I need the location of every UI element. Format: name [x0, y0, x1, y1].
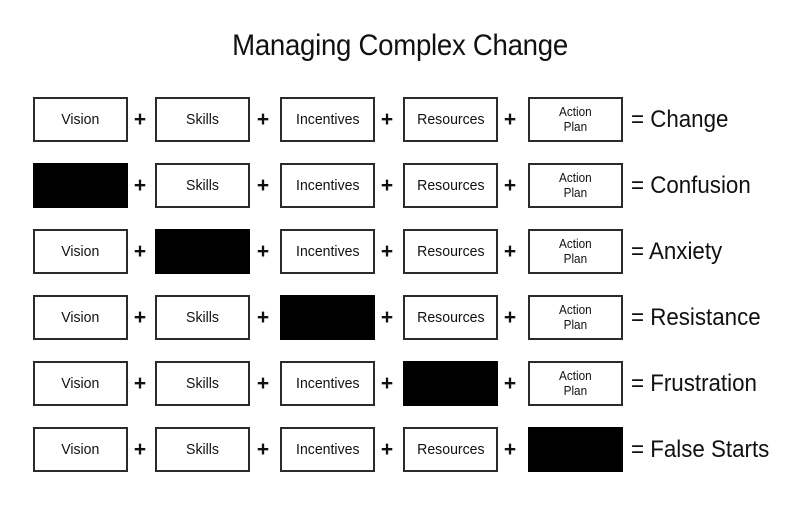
factor-label: Action Plan — [559, 303, 592, 332]
equation-row: Vision+Skills+Incentives+Resources+Actio… — [0, 154, 800, 220]
factor-label: Resources — [417, 112, 484, 128]
factor-box-incentives-blacked[interactable]: Incentives — [280, 295, 375, 340]
factor-label: Incentives — [296, 442, 359, 458]
factor-box-incentives[interactable]: Incentives — [280, 427, 375, 472]
plus-operator: + — [499, 295, 521, 340]
plus-operator: + — [499, 97, 521, 142]
factor-label: Incentives — [296, 178, 359, 194]
factor-box-skills[interactable]: Skills — [155, 97, 250, 142]
result-label-incentives: = Resistance — [631, 295, 761, 340]
page-title: Managing Complex Change — [32, 29, 768, 63]
factor-box-incentives[interactable]: Incentives — [280, 97, 375, 142]
plus-operator: + — [252, 361, 274, 406]
factor-box-resources[interactable]: Resources — [403, 427, 498, 472]
plus-operator: + — [129, 361, 151, 406]
factor-box-action_plan[interactable]: Action Plan — [528, 163, 623, 208]
factor-label: Vision — [61, 310, 99, 326]
factor-box-action_plan[interactable]: Action Plan — [528, 295, 623, 340]
equation-row: Vision+Skills+Incentives+Resources+Actio… — [0, 352, 800, 418]
result-label-resources: = Frustration — [631, 361, 757, 406]
equation-row: Vision+Skills+Incentives+Resources+Actio… — [0, 286, 800, 352]
factor-box-incentives[interactable]: Incentives — [280, 361, 375, 406]
factor-label: Action Plan — [559, 105, 592, 134]
factor-box-resources[interactable]: Resources — [403, 229, 498, 274]
factor-box-resources[interactable]: Resources — [403, 295, 498, 340]
equation-row: Vision+Skills+Incentives+Resources+Actio… — [0, 88, 800, 154]
factor-label: Action Plan — [559, 237, 592, 266]
factor-label: Incentives — [296, 376, 359, 392]
factor-box-vision-blacked[interactable]: Vision — [33, 163, 128, 208]
plus-operator: + — [376, 163, 398, 208]
factor-box-vision[interactable]: Vision — [33, 361, 128, 406]
plus-operator: + — [129, 163, 151, 208]
plus-operator: + — [129, 295, 151, 340]
factor-label: Skills — [186, 178, 219, 194]
factor-box-incentives[interactable]: Incentives — [280, 229, 375, 274]
factor-box-skills[interactable]: Skills — [155, 163, 250, 208]
plus-operator: + — [376, 427, 398, 472]
factor-box-vision[interactable]: Vision — [33, 295, 128, 340]
plus-operator: + — [376, 295, 398, 340]
plus-operator: + — [499, 163, 521, 208]
factor-box-action_plan[interactable]: Action Plan — [528, 97, 623, 142]
equation-row: Vision+Skills+Incentives+Resources+Actio… — [0, 418, 800, 484]
plus-operator: + — [376, 361, 398, 406]
factor-box-resources[interactable]: Resources — [403, 163, 498, 208]
factor-label: Incentives — [296, 244, 359, 260]
factor-box-vision[interactable]: Vision — [33, 97, 128, 142]
factor-label: Incentives — [296, 112, 359, 128]
factor-label: Resources — [417, 442, 484, 458]
factor-box-incentives[interactable]: Incentives — [280, 163, 375, 208]
result-label-skills: = Anxiety — [631, 229, 722, 274]
equation-row: Vision+Skills+Incentives+Resources+Actio… — [0, 220, 800, 286]
result-label-action_plan: = False Starts — [631, 427, 769, 472]
factor-box-action_plan[interactable]: Action Plan — [528, 361, 623, 406]
plus-operator: + — [252, 97, 274, 142]
factor-label: Skills — [186, 310, 219, 326]
factor-label: Resources — [417, 244, 484, 260]
factor-label: Resources — [417, 310, 484, 326]
factor-label: Skills — [186, 376, 219, 392]
result-label-change: = Change — [631, 97, 728, 142]
factor-box-skills[interactable]: Skills — [155, 295, 250, 340]
factor-label: Vision — [61, 112, 99, 128]
plus-operator: + — [376, 97, 398, 142]
factor-label: Skills — [186, 112, 219, 128]
result-label-vision: = Confusion — [631, 163, 751, 208]
change-matrix: Vision+Skills+Incentives+Resources+Actio… — [0, 88, 800, 484]
factor-label: Action Plan — [559, 171, 592, 200]
factor-label: Vision — [61, 244, 99, 260]
factor-label: Vision — [61, 442, 99, 458]
plus-operator: + — [252, 295, 274, 340]
plus-operator: + — [129, 229, 151, 274]
factor-box-resources-blacked[interactable]: Resources — [403, 361, 498, 406]
factor-label: Action Plan — [559, 369, 592, 398]
plus-operator: + — [499, 361, 521, 406]
factor-box-resources[interactable]: Resources — [403, 97, 498, 142]
factor-box-action_plan-blacked[interactable]: Action Plan — [528, 427, 623, 472]
factor-box-skills[interactable]: Skills — [155, 361, 250, 406]
factor-box-action_plan[interactable]: Action Plan — [528, 229, 623, 274]
factor-box-skills-blacked[interactable]: Skills — [155, 229, 250, 274]
factor-label: Resources — [417, 178, 484, 194]
factor-box-skills[interactable]: Skills — [155, 427, 250, 472]
factor-box-vision[interactable]: Vision — [33, 427, 128, 472]
plus-operator: + — [499, 229, 521, 274]
plus-operator: + — [129, 97, 151, 142]
plus-operator: + — [252, 427, 274, 472]
factor-label: Skills — [186, 442, 219, 458]
plus-operator: + — [376, 229, 398, 274]
plus-operator: + — [252, 229, 274, 274]
factor-label: Vision — [61, 376, 99, 392]
plus-operator: + — [129, 427, 151, 472]
plus-operator: + — [499, 427, 521, 472]
factor-box-vision[interactable]: Vision — [33, 229, 128, 274]
plus-operator: + — [252, 163, 274, 208]
